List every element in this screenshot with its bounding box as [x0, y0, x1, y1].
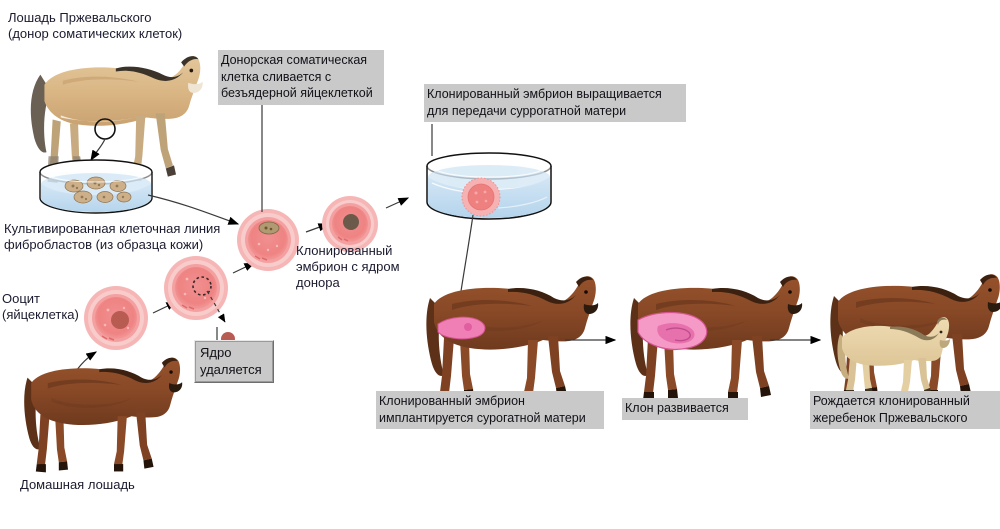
label-cloned-embryo-nucleus: Клонированный эмбрион с ядром донора [296, 243, 400, 291]
mare-with-cloned-foal [830, 274, 1000, 399]
label-fibroblast-line: Культивированная клеточная линия фибробл… [4, 221, 220, 253]
oocyte-cell [84, 286, 148, 350]
embryo-culture-dish [427, 153, 551, 219]
surrogate-mare-implantation [426, 276, 598, 401]
callout-nucleus-removed: Ядро удаляется [194, 340, 274, 383]
cloning-diagram: Лошадь Пржевальского (донор соматических… [0, 0, 1000, 529]
arrow-embryo-to-dish [386, 198, 408, 208]
arrow-dish-to-fusion [148, 195, 238, 224]
uterus-with-embryo [438, 317, 485, 339]
callout-embryo-implanted: Клонированный эмбрион имплантируется сур… [376, 391, 604, 429]
callout-embryo-grown: Клонированный эмбрион выращивается для п… [424, 84, 686, 122]
label-oocyte: Ооцит (яйцеклетка) [2, 291, 79, 323]
fused-cell [237, 209, 299, 271]
callout-cell-fusion: Донорская соматическая клетка сливается … [218, 50, 384, 105]
surrogate-mare-gestation [630, 276, 802, 401]
arrow-horse-to-oocyte [64, 352, 96, 395]
diagram-artwork [0, 0, 1000, 529]
callout-foal-born: Рождается клонированный жеребенок Пржева… [810, 391, 1000, 429]
label-donor-horse: Лошадь Пржевальского (донор соматических… [8, 10, 182, 42]
label-domestic-horse: Домашная лошадь [20, 477, 135, 493]
fibroblast-culture-dish [40, 160, 152, 213]
callout-clone-develops: Клон развивается [622, 398, 748, 420]
